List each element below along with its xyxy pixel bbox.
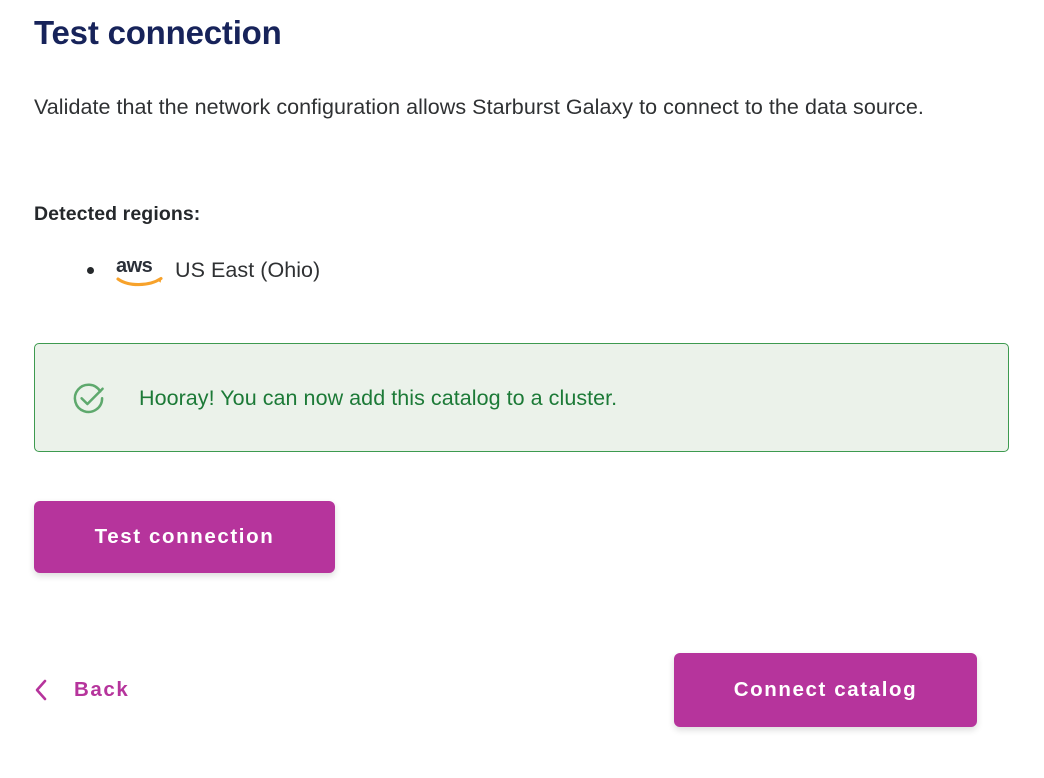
chevron-left-icon — [33, 678, 49, 702]
svg-text:aws: aws — [116, 255, 153, 277]
list-item: aws US East (Ohio) — [34, 253, 320, 287]
connect-catalog-button[interactable]: Connect catalog — [674, 653, 977, 727]
page-title: Test connection — [34, 11, 282, 55]
back-button-label: Back — [74, 678, 129, 702]
status-banner-success: Hooray! You can now add this catalog to … — [34, 343, 1009, 452]
test-connection-button[interactable]: Test connection — [34, 501, 335, 573]
page-description: Validate that the network configuration … — [34, 84, 994, 131]
test-connection-panel: Test connection Validate that the networ… — [0, 0, 1044, 778]
detected-regions-list: aws US East (Ohio) — [34, 253, 320, 287]
bullet-icon — [87, 267, 94, 274]
status-message: Hooray! You can now add this catalog to … — [139, 383, 617, 413]
aws-logo-icon: aws — [116, 253, 168, 287]
region-label: US East (Ohio) — [175, 255, 320, 285]
detected-regions-heading: Detected regions: — [34, 201, 200, 227]
check-circle-icon — [69, 378, 109, 418]
back-button[interactable]: Back — [33, 668, 129, 712]
